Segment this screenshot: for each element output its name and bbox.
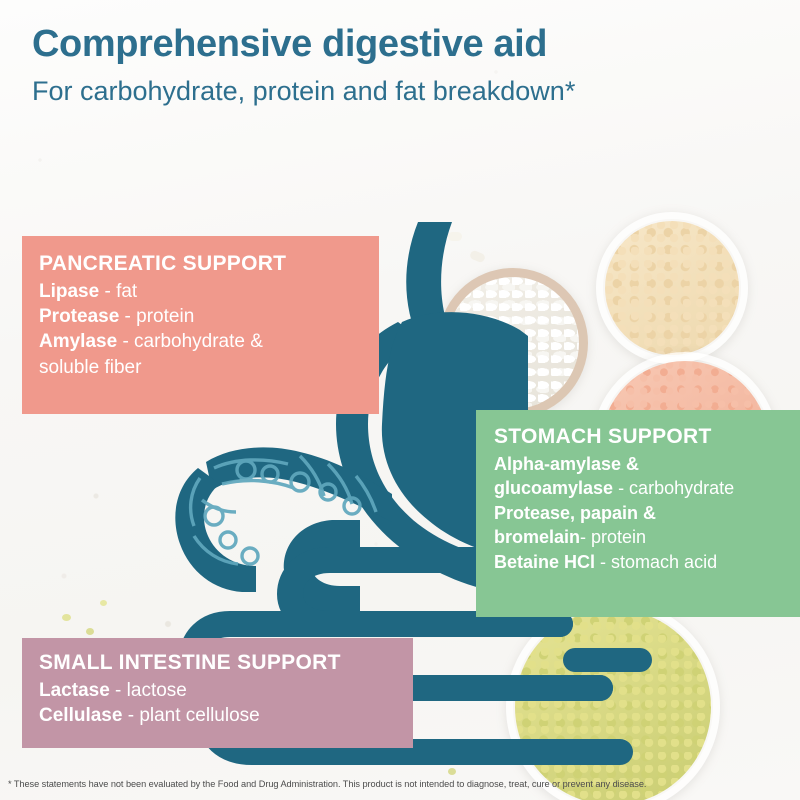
enzyme-name: Protease xyxy=(39,306,119,327)
enzyme-detail: - carbohydrate xyxy=(613,478,734,498)
scattered-bean xyxy=(100,600,107,606)
page-title: Comprehensive digestive aid xyxy=(32,24,772,66)
callout-line: Amylase - carbohydrate & xyxy=(39,329,379,354)
enzyme-detail: soluble fiber xyxy=(39,357,141,378)
scattered-capsule xyxy=(448,232,462,241)
footer-disclaimer: * These statements have not been evaluat… xyxy=(8,779,796,791)
enzyme-name: Lactase xyxy=(39,680,110,701)
header: Comprehensive digestive aid For carbohyd… xyxy=(32,24,772,107)
scattered-bean xyxy=(62,614,71,621)
enzyme-detail: - lactose xyxy=(110,680,187,701)
enzyme-detail: - protein xyxy=(119,306,194,327)
callout-title: PANCREATIC SUPPORT xyxy=(39,252,379,277)
callout-line: Cellulase - plant cellulose xyxy=(39,703,413,728)
enzyme-detail: - stomach acid xyxy=(595,552,717,572)
enzyme-name: Amylase xyxy=(39,331,117,352)
bowl-of-split-peas xyxy=(596,212,748,364)
page-subtitle: For carbohydrate, protein and fat breakd… xyxy=(32,76,772,107)
scattered-bean xyxy=(448,768,456,775)
bowl-rim xyxy=(596,212,748,364)
scattered-bean xyxy=(86,628,94,635)
callout-small-intestine-support: SMALL INTESTINE SUPPORT Lactase - lactos… xyxy=(22,638,413,748)
callout-line: Alpha-amylase & xyxy=(494,452,800,476)
enzyme-name: Cellulase xyxy=(39,705,122,726)
enzyme-detail: - fat xyxy=(99,281,137,302)
callout-line: bromelain- protein xyxy=(494,525,800,549)
enzyme-detail: - carbohydrate & xyxy=(117,331,263,352)
callout-line: soluble fiber xyxy=(39,355,379,380)
enzyme-name: Protease, papain & xyxy=(494,503,656,523)
enzyme-name: Lipase xyxy=(39,281,99,302)
callout-title: SMALL INTESTINE SUPPORT xyxy=(39,651,413,676)
callout-line: Protease, papain & xyxy=(494,501,800,525)
wooden-bowl-of-capsules xyxy=(438,268,588,418)
callout-line: glucoamylase - carbohydrate xyxy=(494,476,800,500)
bowl-rim xyxy=(506,600,720,800)
enzyme-detail: - protein xyxy=(580,527,646,547)
callout-title: STOMACH SUPPORT xyxy=(494,425,800,450)
callout-line: Protease - protein xyxy=(39,304,379,329)
scattered-bean xyxy=(426,754,435,762)
infographic-canvas: Comprehensive digestive aid For carbohyd… xyxy=(0,0,800,800)
enzyme-name: bromelain xyxy=(494,527,580,547)
bowl-of-mung-beans xyxy=(506,600,720,800)
enzyme-name: Alpha-amylase & xyxy=(494,454,639,474)
callout-line: Betaine HCl - stomach acid xyxy=(494,550,800,574)
enzyme-name: glucoamylase xyxy=(494,478,613,498)
callout-stomach-support: STOMACH SUPPORT Alpha-amylase & glucoamy… xyxy=(476,410,800,617)
enzyme-name: Betaine HCl xyxy=(494,552,595,572)
callout-pancreatic-support: PANCREATIC SUPPORT Lipase - fat Protease… xyxy=(22,236,379,414)
bowl-rim xyxy=(438,268,588,418)
callout-line: Lactase - lactose xyxy=(39,678,413,703)
callout-line: Lipase - fat xyxy=(39,279,379,304)
enzyme-detail: - plant cellulose xyxy=(122,705,259,726)
